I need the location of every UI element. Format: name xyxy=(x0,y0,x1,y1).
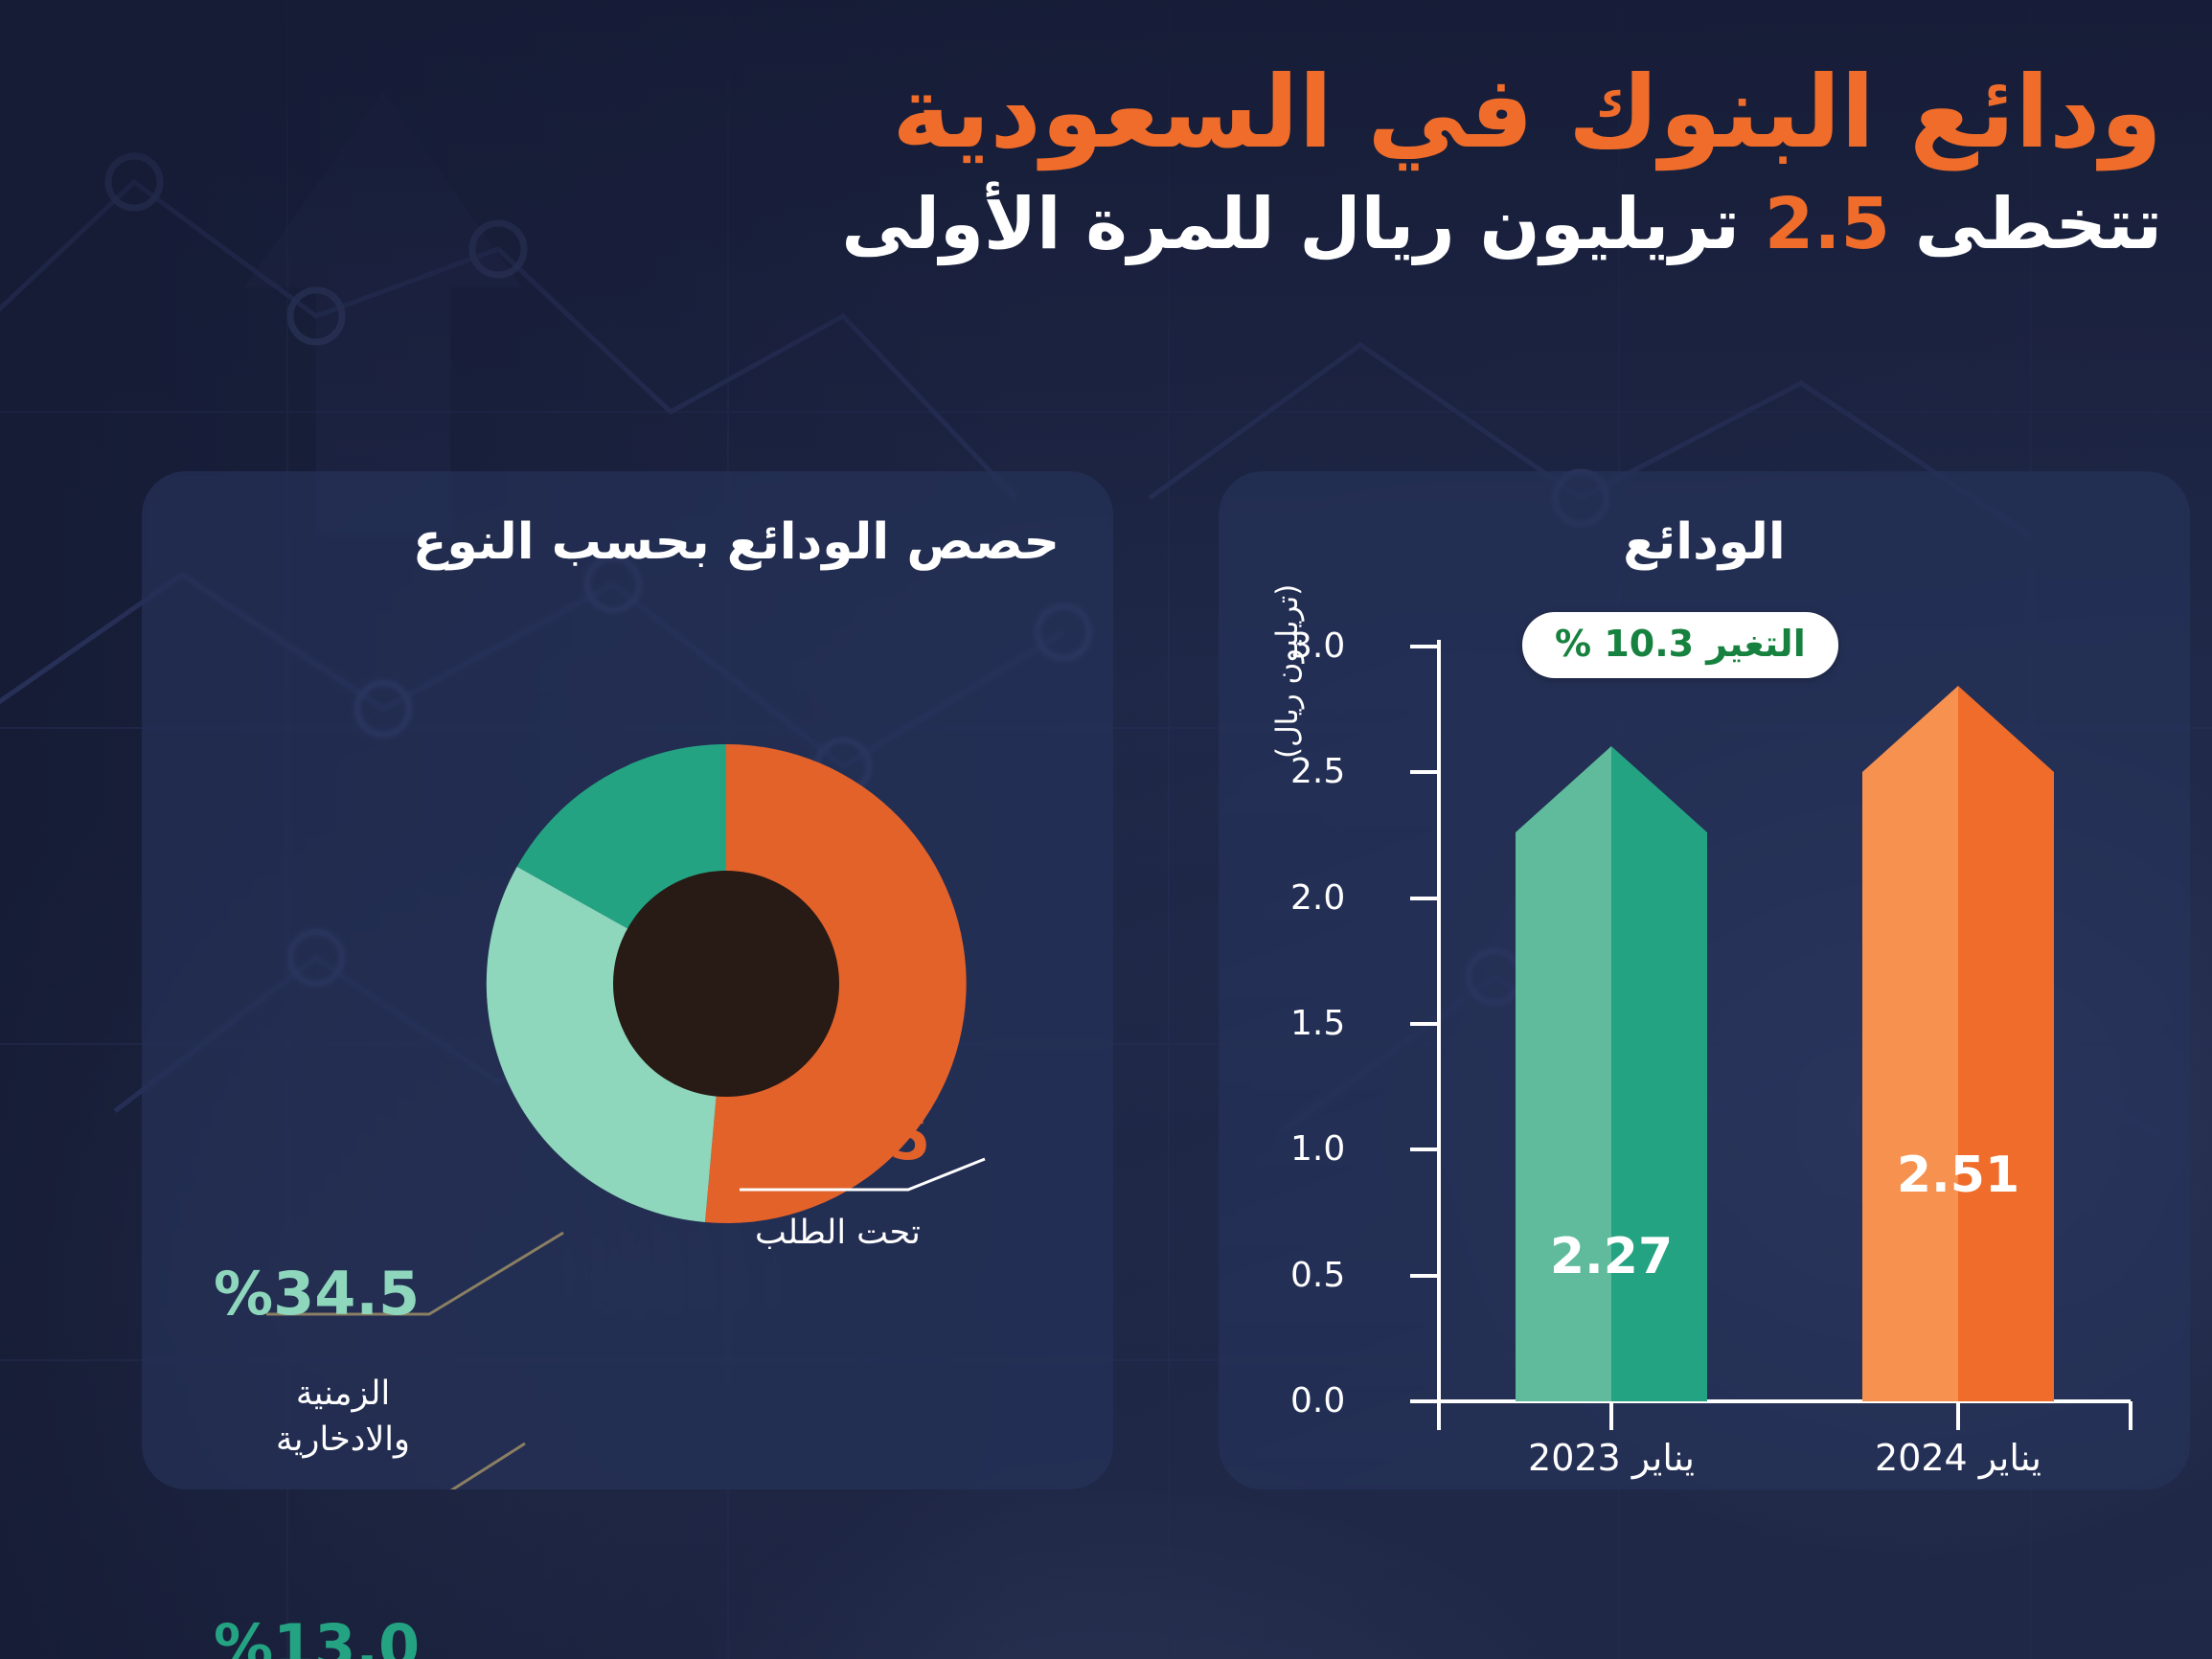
bar-2024-right-face xyxy=(1958,686,2054,1401)
x-label-2024: يناير 2024 xyxy=(1805,1437,2111,1479)
donut-chart-title: حصص الودائع بحسب النوع xyxy=(186,513,1069,571)
bar-2023-left-face xyxy=(1516,746,1611,1401)
page-title: ودائع البنوك في السعودية xyxy=(534,50,2162,174)
y-tick-1-5: 1.5 xyxy=(1290,1004,1391,1043)
donut-label-time-savings: الزمنية والادخارية xyxy=(223,1372,463,1463)
donut-value-other: %13.0 xyxy=(214,1611,420,1659)
subtitle-part-before: تتخطى xyxy=(1890,183,2162,265)
bar-2023-right-face xyxy=(1611,746,1707,1401)
y-tick-2-5: 2.5 xyxy=(1290,752,1391,791)
subtitle-highlight-value: 2.5 xyxy=(1765,183,1890,265)
deposits-bar-chart xyxy=(1219,471,2190,1489)
donut-hole xyxy=(613,871,839,1097)
infographic-canvas: ودائع البنوك في السعودية تتخطى 2.5 تريلي… xyxy=(0,0,2212,1659)
donut-label-time-savings-line2: والادخارية xyxy=(223,1418,463,1464)
deposits-share-panel: حصص الودائع بحسب النوع %52.5 تحت الطلب %… xyxy=(142,471,1113,1489)
bar-2024-left-face xyxy=(1862,686,1958,1401)
y-tick-0-5: 0.5 xyxy=(1290,1256,1391,1295)
x-label-2023: يناير 2023 xyxy=(1458,1437,1765,1479)
deposits-total-panel: الودائع التغير 10.3 % (تريليون ريال) xyxy=(1219,471,2190,1489)
y-tick-2-0: 2.0 xyxy=(1290,878,1391,918)
page-subtitle: تتخطى 2.5 تريليون ريال للمرة الأولى xyxy=(534,178,2162,270)
header: ودائع البنوك في السعودية تتخطى 2.5 تريلي… xyxy=(534,50,2162,270)
y-tick-3-0: 3.0 xyxy=(1290,626,1391,666)
donut-label-demand: تحت الطلب xyxy=(755,1211,921,1257)
bar-value-2023: 2.27 xyxy=(1516,1228,1707,1285)
y-tick-0-0: 0.0 xyxy=(1290,1381,1391,1420)
y-tick-1-0: 1.0 xyxy=(1290,1129,1391,1169)
subtitle-part-after: تريليون ريال للمرة الأولى xyxy=(841,183,1764,265)
donut-label-time-savings-line1: الزمنية xyxy=(223,1372,463,1418)
bar-value-2024: 2.51 xyxy=(1862,1147,2054,1204)
donut-value-time-savings: %34.5 xyxy=(214,1259,420,1329)
donut-value-demand: %52.5 xyxy=(724,1103,930,1173)
